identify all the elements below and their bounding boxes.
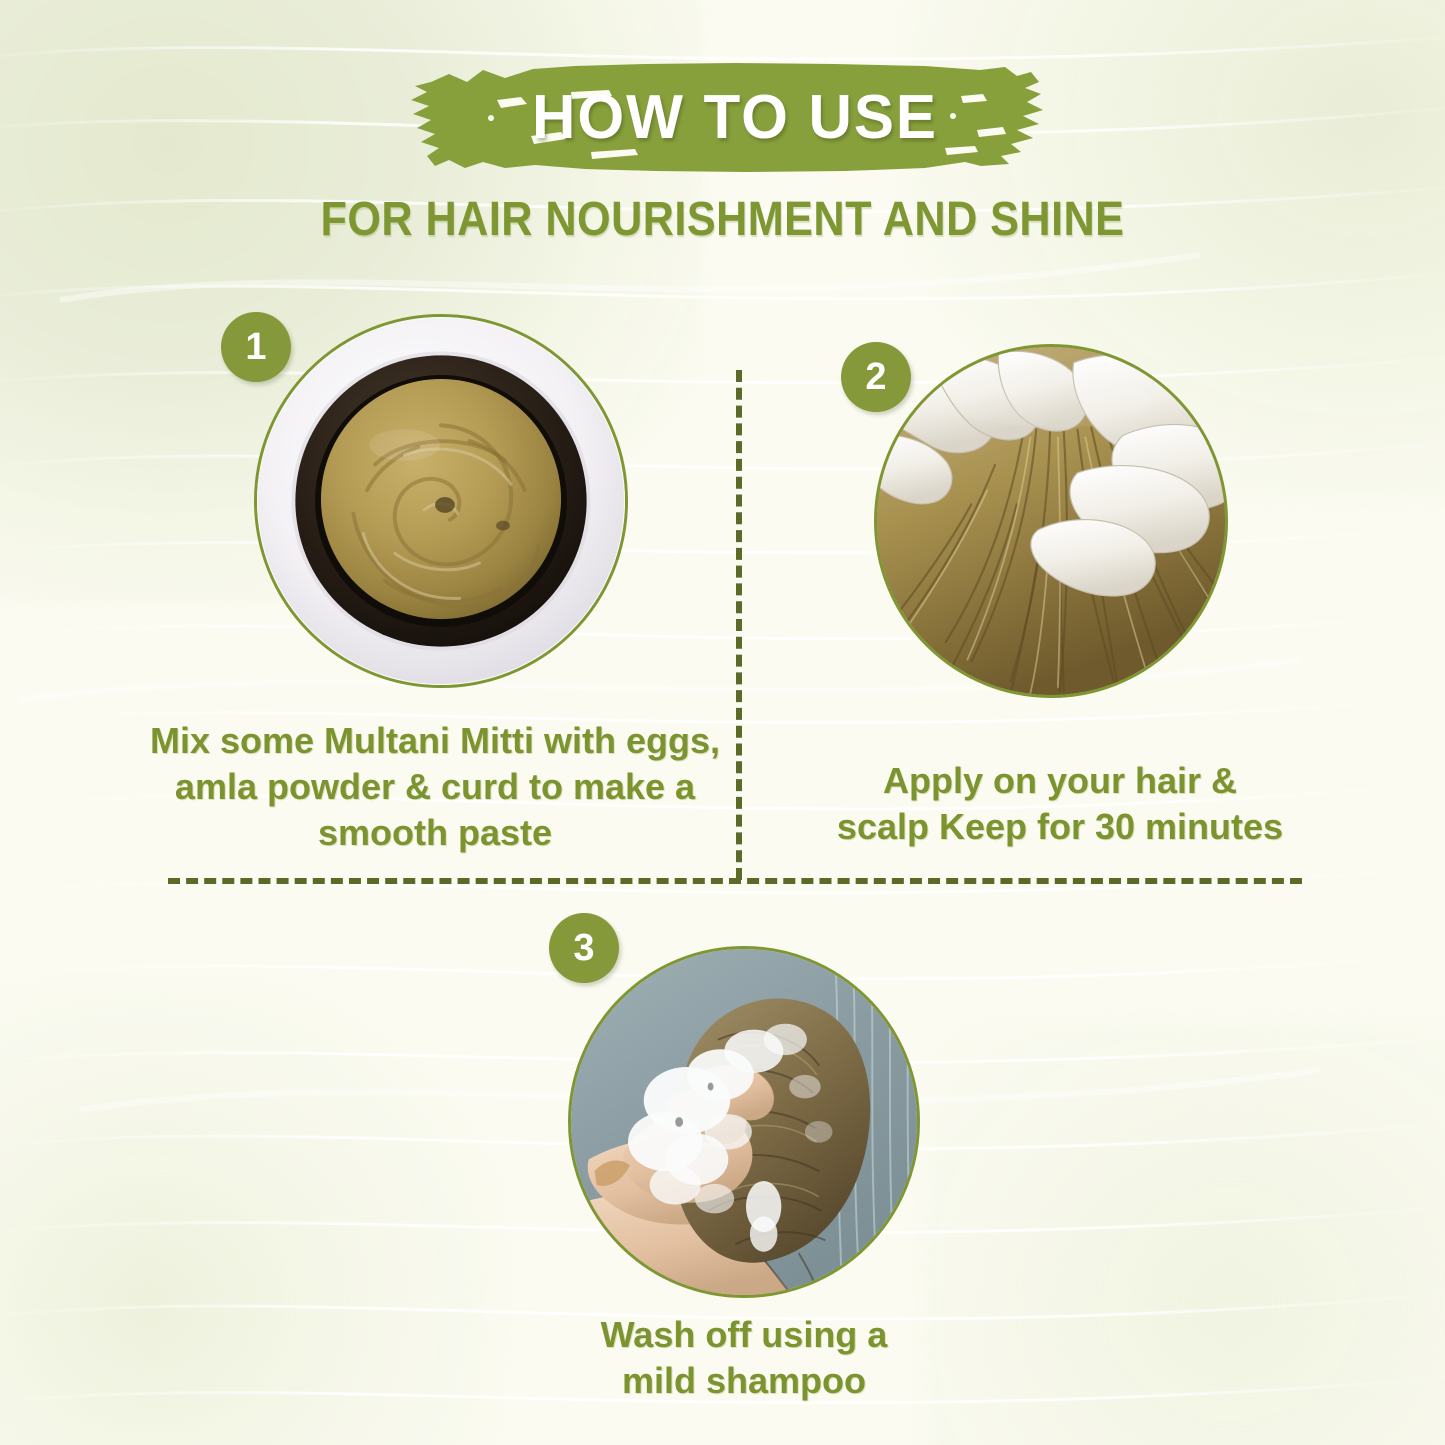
step-1-caption-line-1: Mix some Multani Mitti with eggs, [110, 718, 760, 764]
step-3-photo [568, 946, 920, 1298]
step-3-caption-line-2: mild shampoo [444, 1358, 1044, 1404]
step-2-caption-line-1: Apply on your hair & [790, 758, 1330, 804]
step-2-caption-line-2: scalp Keep for 30 minutes [790, 804, 1330, 850]
step-3-number: 3 [573, 927, 594, 970]
step-1-caption-line-2: amla powder & curd to make a [110, 764, 760, 810]
infographic-canvas: HOW TO USE FOR HAIR NOURISHMENT AND SHIN… [0, 0, 1445, 1445]
step-2-photo [874, 344, 1228, 698]
page-subtitle: FOR HAIR NOURISHMENT AND SHINE [72, 192, 1373, 247]
step-1-caption-line-3: smooth paste [110, 810, 760, 856]
step-1-caption: Mix some Multani Mitti with eggs, amla p… [110, 718, 760, 856]
horizontal-dashed-divider [168, 878, 1302, 884]
page-title: HOW TO USE [415, 52, 1055, 182]
step-3-badge: 3 [549, 913, 619, 983]
step-2-number: 2 [865, 356, 886, 399]
background-wash-bottom-left [0, 985, 500, 1445]
step-1-badge: 1 [221, 312, 291, 382]
step-2-badge: 2 [841, 342, 911, 412]
step-2-caption: Apply on your hair & scalp Keep for 30 m… [790, 758, 1330, 850]
step-3-caption-line-1: Wash off using a [444, 1312, 1044, 1358]
step-1-number: 1 [245, 326, 266, 369]
step-1-photo [254, 314, 628, 688]
step-3-caption: Wash off using a mild shampoo [444, 1312, 1044, 1404]
